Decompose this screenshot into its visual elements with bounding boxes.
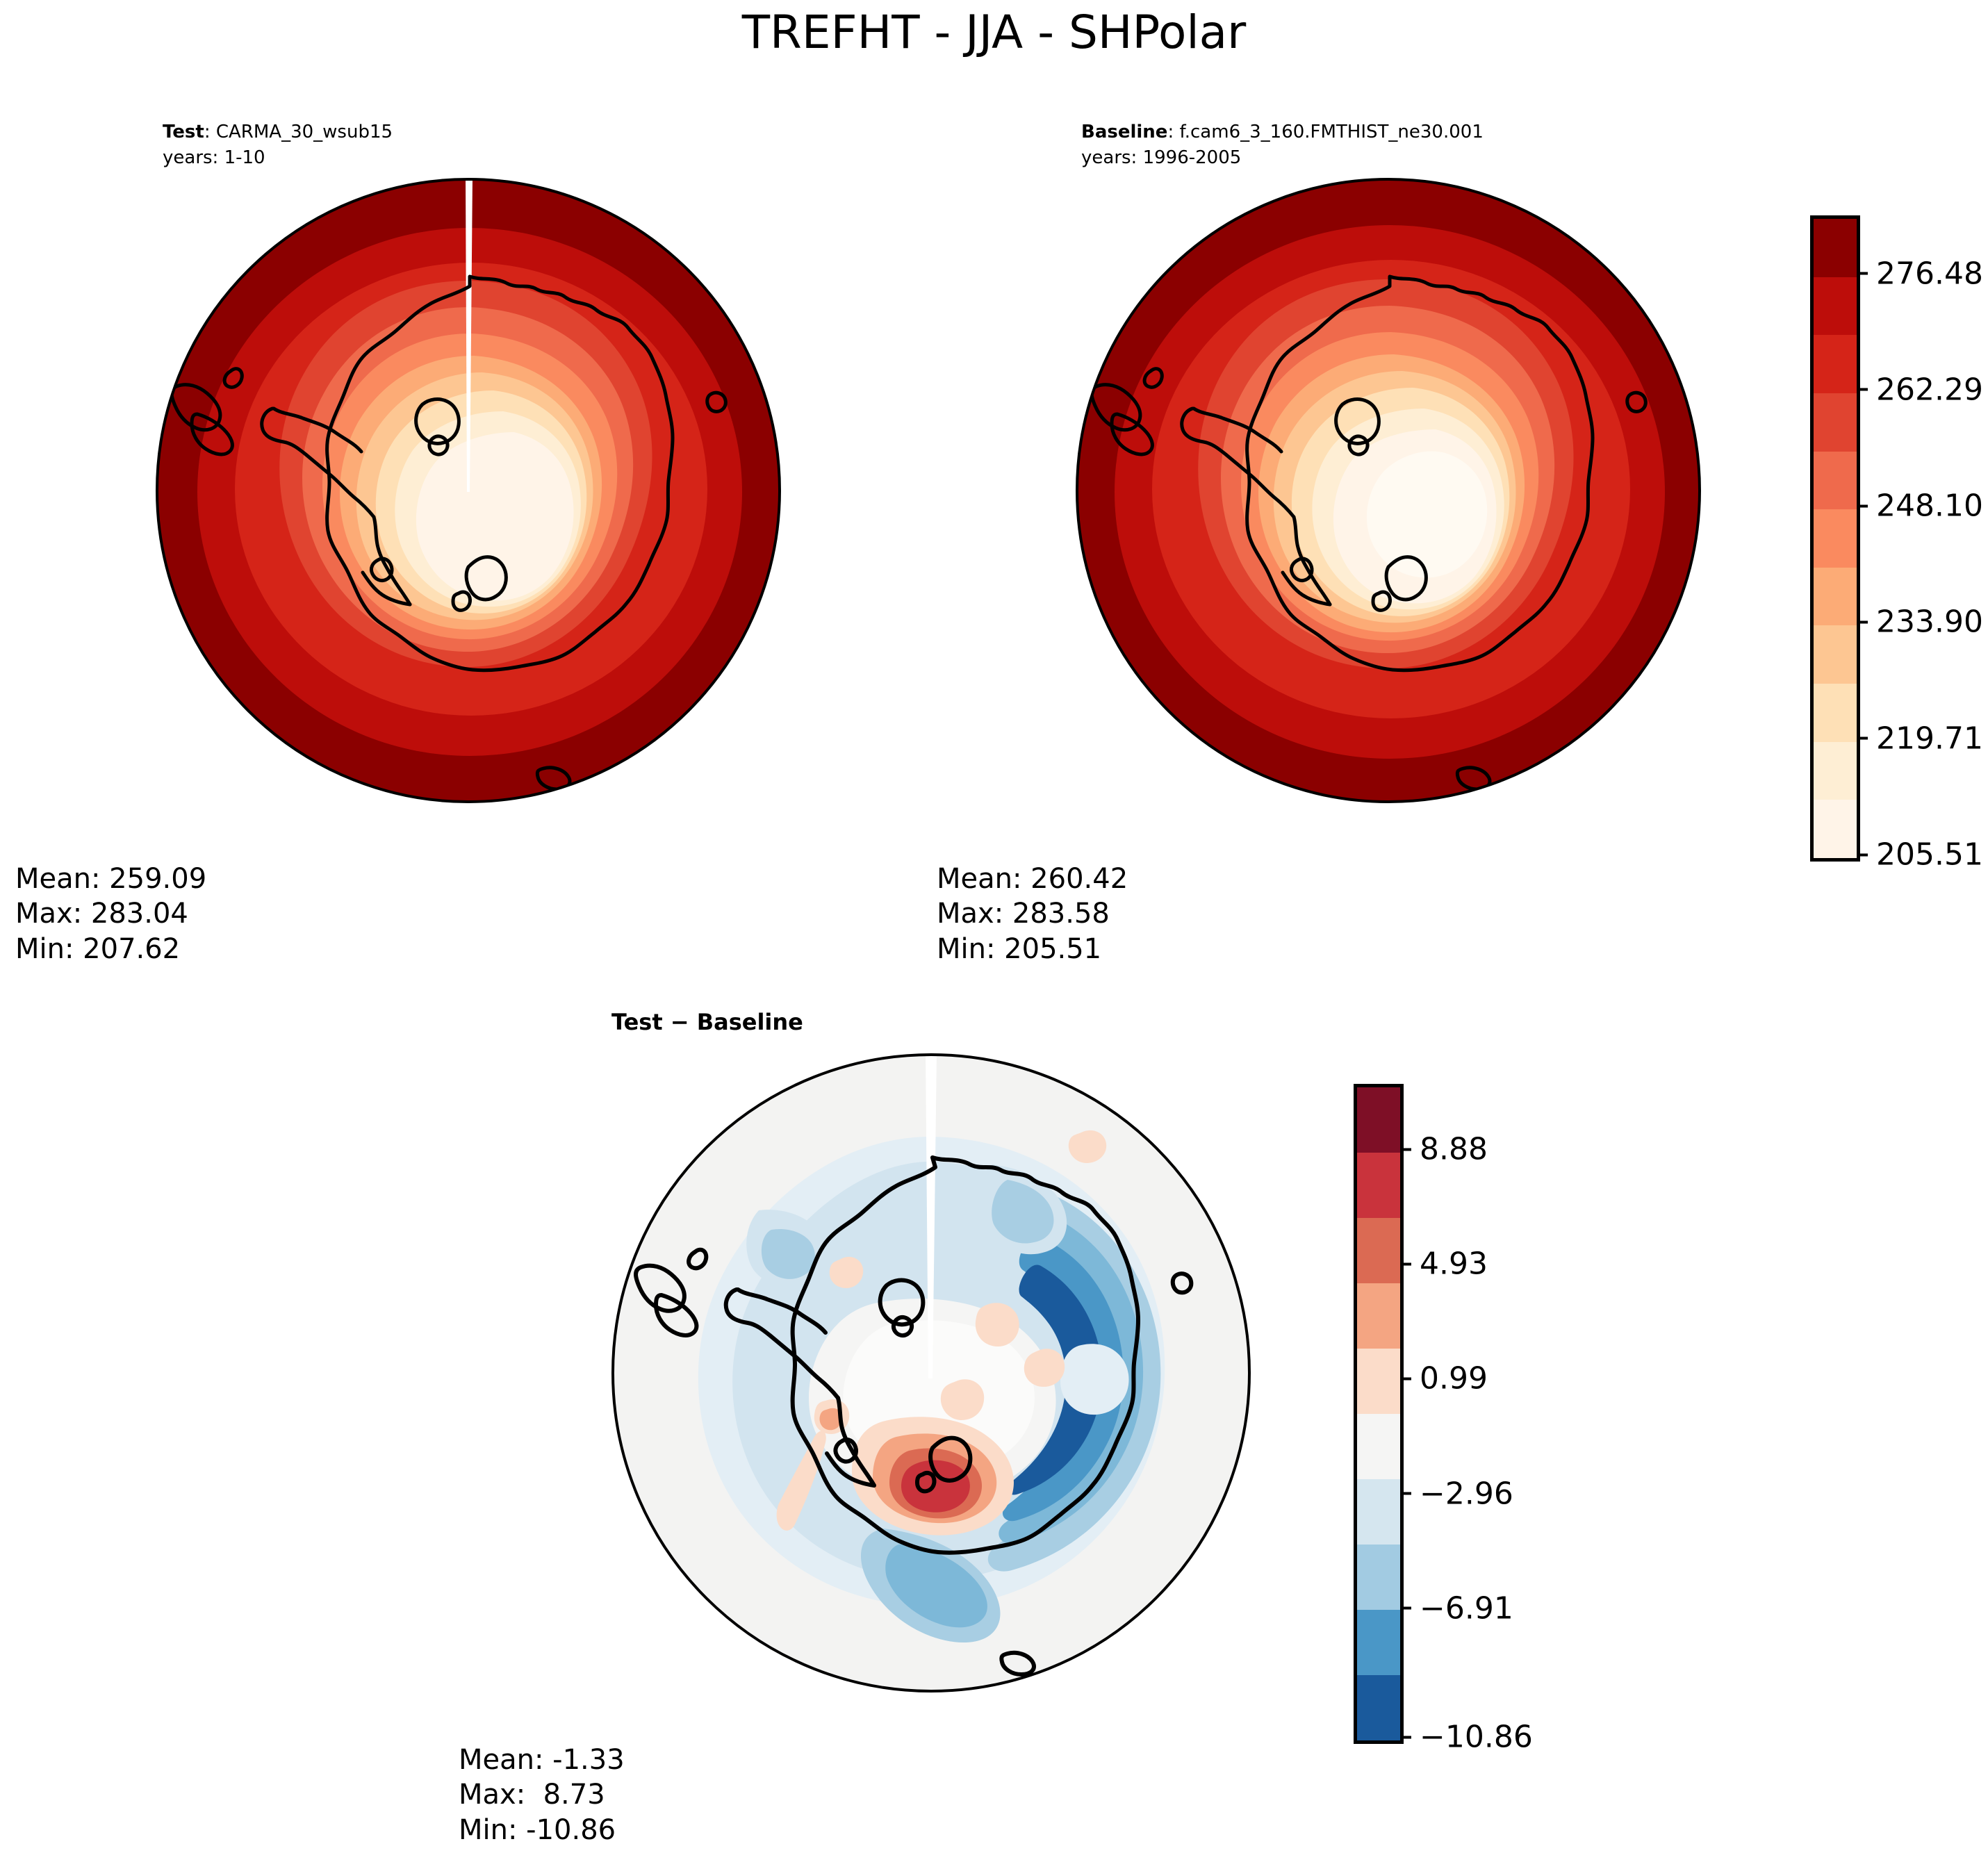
colorbar-tick: 262.29 <box>1857 372 1983 407</box>
test-polar-map <box>156 178 781 803</box>
test-stats: Mean: 259.09 Max: 283.04 Min: 207.62 <box>15 862 206 966</box>
tick-label: 276.48 <box>1876 256 1983 291</box>
tick-label: 205.51 <box>1876 837 1983 873</box>
colorbar-band <box>1357 1218 1400 1283</box>
tick-label: 4.93 <box>1420 1246 1488 1282</box>
test-case-name: CARMA_30_wsub15 <box>216 122 393 142</box>
colorbar-tick: 205.51 <box>1857 837 1983 873</box>
colorbar-band <box>1357 1087 1400 1153</box>
baseline-polar-map <box>1076 178 1701 803</box>
colorbar-tick: −6.91 <box>1400 1590 1513 1626</box>
baseline-label: Baseline <box>1081 122 1167 142</box>
baseline-stats: Mean: 260.42 Max: 283.58 Min: 205.51 <box>937 862 1128 966</box>
colorbar-band <box>1357 1545 1400 1610</box>
colorbar-band <box>1357 1283 1400 1349</box>
baseline-contour-group <box>1076 178 1701 803</box>
colorbar-band <box>1814 800 1857 858</box>
test-map-svg <box>156 178 781 803</box>
colorbar-band <box>1357 1153 1400 1218</box>
colorbar-band <box>1814 625 1857 684</box>
colorbar-band <box>1357 1610 1400 1675</box>
colorbar-band <box>1357 1479 1400 1545</box>
colorbar-band <box>1814 568 1857 626</box>
difference-stats: Mean: -1.33 Max: 8.73 Min: -10.86 <box>459 1743 625 1847</box>
main-colorbar-ticks: 276.48 262.29 248.10 233.90 219.71 205.5… <box>1857 215 1988 855</box>
baseline-panel-caseline: Baseline: f.cam6_3_160.FMTHIST_ne30.001 <box>1081 120 1484 145</box>
colorbar-tick: 248.10 <box>1857 488 1983 524</box>
colorbar-band <box>1357 1349 1400 1414</box>
tick-label: 233.90 <box>1876 604 1983 640</box>
colorbar-band <box>1814 452 1857 510</box>
tick-label: 262.29 <box>1876 372 1983 407</box>
colorbar-tick: 4.93 <box>1400 1246 1488 1282</box>
tick-label: 219.71 <box>1876 720 1983 756</box>
difference-polar-map <box>611 1053 1251 1693</box>
test-contour-group <box>156 178 781 803</box>
figure-title: TREFHT - JJA - SHPolar <box>0 6 1988 59</box>
tick-label: −2.96 <box>1420 1476 1513 1511</box>
difference-contour-group <box>611 1053 1251 1693</box>
tick-label: 248.10 <box>1876 488 1983 524</box>
difference-panel-title: Test − Baseline <box>611 1009 803 1035</box>
test-panel-header: Test: CARMA_30_wsub15 years: 1-10 <box>163 120 393 171</box>
colorbar-tick: 0.99 <box>1400 1361 1488 1397</box>
test-label: Test <box>163 122 204 142</box>
tick-label: −6.91 <box>1420 1590 1513 1626</box>
colorbar-band <box>1357 1414 1400 1479</box>
colorbar-tick: −10.86 <box>1400 1720 1533 1755</box>
colorbar-tick: 233.90 <box>1857 604 1983 640</box>
colorbar-tick: −2.96 <box>1400 1476 1513 1511</box>
colorbar-band <box>1814 509 1857 568</box>
difference-colorbar[interactable] <box>1354 1084 1404 1744</box>
colorbar-band <box>1814 684 1857 742</box>
difference-map-svg <box>611 1053 1251 1693</box>
tick-label: 8.88 <box>1420 1132 1488 1167</box>
colorbar-band <box>1814 393 1857 452</box>
colorbar-tick: 276.48 <box>1857 256 1983 291</box>
baseline-map-svg <box>1076 178 1701 803</box>
tick-label: 0.99 <box>1420 1361 1488 1397</box>
tick-label: −10.86 <box>1420 1720 1533 1755</box>
test-separator: : <box>204 122 211 142</box>
baseline-panel-header: Baseline: f.cam6_3_160.FMTHIST_ne30.001 … <box>1081 120 1484 171</box>
test-panel-caseline: Test: CARMA_30_wsub15 <box>163 120 393 145</box>
colorbar-band <box>1814 277 1857 336</box>
colorbar-band <box>1814 219 1857 277</box>
colorbar-tick: 8.88 <box>1400 1132 1488 1167</box>
colorbar-band <box>1814 335 1857 393</box>
baseline-separator: : <box>1167 122 1174 142</box>
colorbar-band <box>1814 742 1857 800</box>
test-years: years: 1-10 <box>163 145 393 171</box>
baseline-case-name: f.cam6_3_160.FMTHIST_ne30.001 <box>1179 122 1483 142</box>
difference-colorbar-ticks: 8.88 4.93 0.99 −2.96 −6.91 −10.86 <box>1400 1084 1539 1737</box>
colorbar-tick: 219.71 <box>1857 720 1983 756</box>
colorbar-band <box>1357 1675 1400 1740</box>
baseline-years: years: 1996-2005 <box>1081 145 1484 171</box>
main-colorbar[interactable] <box>1810 215 1860 862</box>
